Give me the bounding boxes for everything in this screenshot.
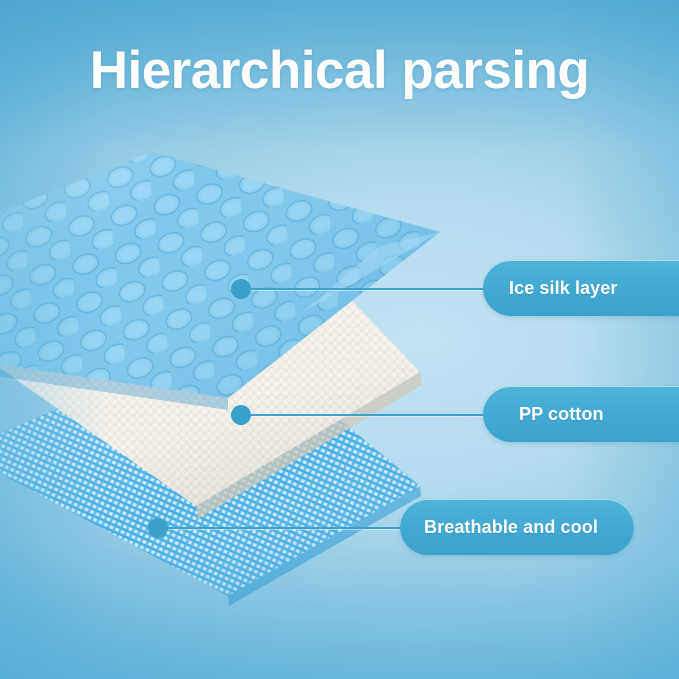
callout-line-ice-silk — [241, 288, 506, 290]
label-text-breathable-and-cool: Breathable and cool — [424, 517, 598, 538]
callout-line-breathable — [158, 527, 414, 529]
label-text-pp-cotton: PP cotton — [519, 404, 604, 425]
label-text-ice-silk-layer: Ice silk layer — [509, 278, 618, 299]
label-pill-breathable-and-cool[interactable]: Breathable and cool — [400, 499, 634, 555]
callout-dot-pp-cotton — [231, 405, 251, 425]
callout-dot-breathable — [148, 518, 168, 538]
page-title: Hierarchical parsing — [0, 40, 679, 101]
label-pill-pp-cotton[interactable]: PP cotton — [483, 386, 679, 442]
callout-line-pp-cotton — [241, 414, 506, 416]
infographic-canvas: Hierarchical parsing Ice silk layer PP c… — [0, 0, 679, 679]
label-pill-ice-silk-layer[interactable]: Ice silk layer — [483, 260, 679, 316]
callout-dot-ice-silk — [231, 279, 251, 299]
product-layer-illustration — [0, 0, 679, 679]
